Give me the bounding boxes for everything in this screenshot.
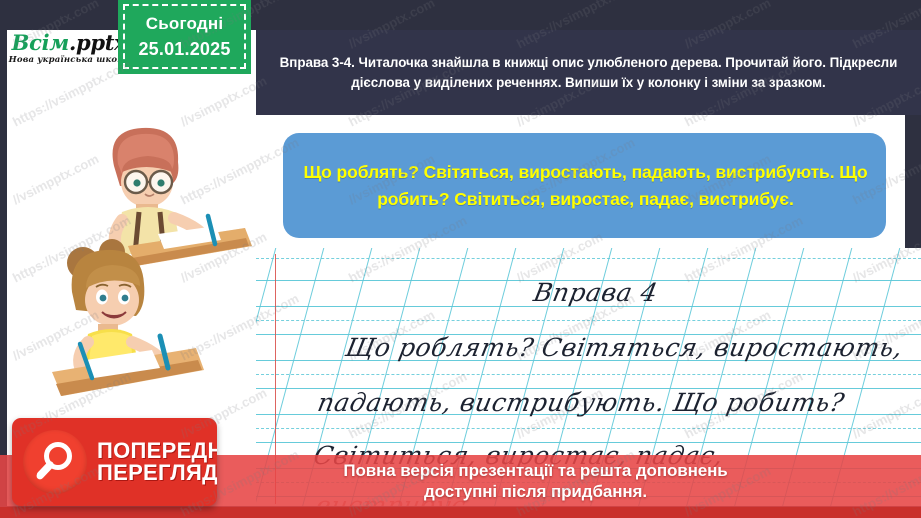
logo-text: Всім.pptx	[12, 32, 127, 53]
preview-badge-label: ПОПЕРЕДНІЙ ПЕРЕГЛЯД	[97, 440, 217, 485]
purchase-banner-text: Повна версія презентації та решта доповн…	[343, 460, 727, 503]
kids-svg	[40, 120, 255, 410]
today-date-badge: Сьогодні 25.01.2025	[118, 0, 251, 74]
purchase-banner-line-2: доступні після придбання.	[343, 481, 727, 502]
preview-badge-line-2: ПЕРЕГЛЯД	[97, 462, 217, 484]
answer-callout-text: Що роблять? Світяться, виростають, падаю…	[299, 159, 872, 212]
preview-badge[interactable]: ПОПЕРЕДНІЙ ПЕРЕГЛЯД	[12, 418, 217, 506]
handwriting-line-2: падають, вистрибують. Що робить?	[315, 388, 847, 417]
task-header: Вправа 3-4. Читалочка знайшла в книжці о…	[256, 30, 921, 115]
purchase-banner-line-1: Повна версія презентації та решта доповн…	[343, 460, 727, 481]
bottom-strip	[0, 507, 921, 518]
date-badge-value: 25.01.2025	[138, 36, 230, 62]
answer-callout: Що роблять? Світяться, виростають, падаю…	[283, 133, 886, 238]
date-badge-label: Сьогодні	[146, 12, 224, 37]
handwriting-title: Вправа 4	[531, 278, 660, 307]
handwriting-line-1: Що роблять? Світяться, виростають,	[343, 333, 905, 362]
magnifier-icon	[23, 430, 87, 494]
site-logo: Всім.pptx Нова українська школа	[8, 24, 130, 72]
logo-subtitle: Нова українська школа	[9, 56, 130, 65]
slide-root: Всім.pptx Нова українська школа Сьогодні…	[0, 0, 921, 518]
children-writing-illustration	[40, 120, 255, 410]
preview-badge-line-1: ПОПЕРЕДНІЙ	[97, 440, 217, 462]
logo-name-first: Всім	[12, 30, 69, 55]
